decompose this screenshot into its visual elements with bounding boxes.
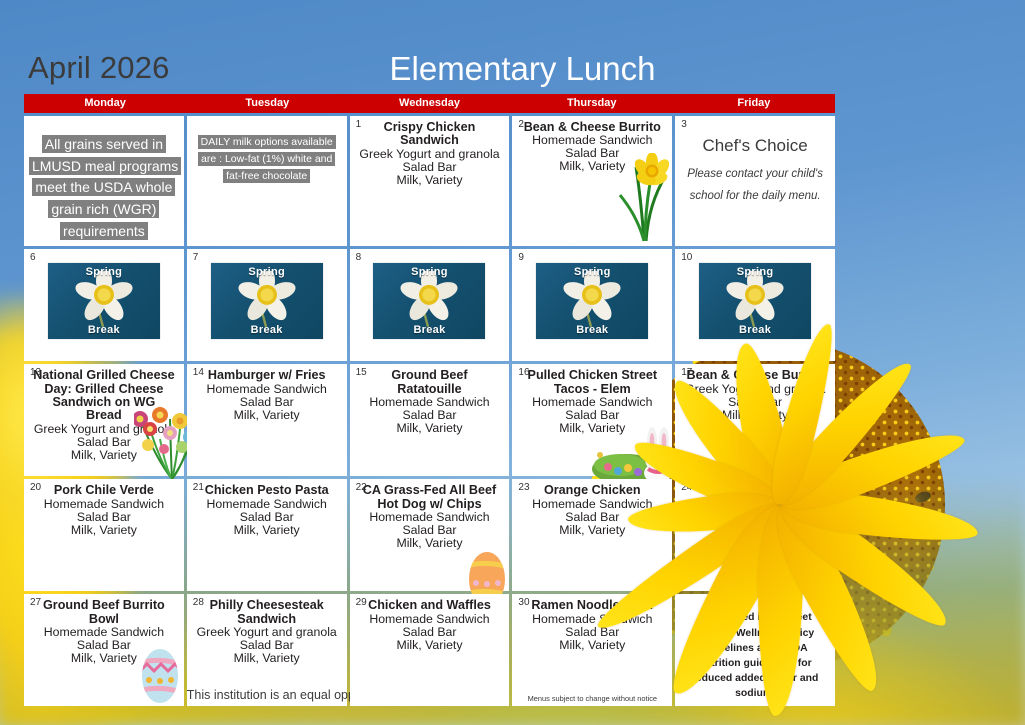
- page-title: Elementary Lunch: [20, 50, 1025, 88]
- menu-side: Milk, Variety: [29, 652, 179, 665]
- spring-break-image: SpringBreak: [211, 263, 323, 339]
- menu-entree: Bean & Cheese Burrito: [517, 121, 667, 134]
- menu-side: Homemade Sandwich: [355, 613, 505, 626]
- spring-break-label-top: Spring: [211, 266, 323, 278]
- note-text: All grains served in LMUSD meal programs…: [29, 135, 181, 240]
- spring-break-label-top: Spring: [373, 266, 485, 278]
- menu-side: Homemade Sandwich: [517, 613, 667, 626]
- day-number: 30: [518, 597, 529, 608]
- day-number: 15: [356, 367, 367, 378]
- note-grains: All grains served in LMUSD meal programs…: [29, 120, 179, 242]
- daffodil-photo-icon: [230, 271, 304, 329]
- menu-entree: Crispy Chicken Sandwich: [355, 121, 505, 148]
- day-number: 17: [681, 367, 692, 378]
- menu-side: Salad Bar: [29, 436, 179, 449]
- chefs-choice-block: Chef's ChoicePlease contact your child's…: [680, 120, 830, 208]
- menu-content: Ground Beef Burrito BowlHomemade Sandwic…: [29, 598, 179, 665]
- calendar-day-cell-2[interactable]: 2Bean & Cheese BurritoHomemade SandwichS…: [512, 116, 672, 246]
- menu-side: Salad Bar: [517, 626, 667, 639]
- menu-side: Greek Yogurt and granola: [355, 148, 505, 161]
- day-number: 21: [193, 482, 204, 493]
- menu-content: Philly Cheesesteak SandwichGreek Yogurt …: [192, 598, 342, 665]
- calendar-day-cell-7[interactable]: 7SpringBreak: [187, 249, 347, 361]
- calendar-day-cell-23[interactable]: 23Orange ChickenHomemade SandwichSalad B…: [512, 479, 672, 591]
- calendar-day-cell-30[interactable]: 30Ramen Noodle BowlHomemade SandwichSala…: [512, 594, 672, 706]
- spring-break-label-bottom: Break: [373, 324, 485, 336]
- calendar-note-cell[interactable]: All grains served in LMUSD meal programs…: [24, 116, 184, 246]
- menu-content: Chicken and WafflesHomemade SandwichSala…: [355, 598, 505, 651]
- menu-entree: CA Grass-Fed All Beef Hot Dog w/ Chips: [355, 484, 505, 511]
- chefs-choice-title: Chef's Choice: [680, 136, 830, 156]
- calendar-day-cell-3[interactable]: 3Chef's ChoicePlease contact your child'…: [675, 116, 835, 246]
- menu-side: Greek Yogurt and granola: [29, 423, 179, 436]
- menu-side: Milk, Variety: [192, 524, 342, 537]
- menu-entree: Hamburger w/ Fries: [192, 369, 342, 382]
- menu-content: Ground Beef RatatouilleHomemade Sandwich…: [355, 368, 505, 435]
- calendar-day-cell-9[interactable]: 9SpringBreak: [512, 249, 672, 361]
- calendar-week-row: 6SpringBreak7SpringBreak8SpringBreak9Spr…: [24, 249, 835, 361]
- menu-side: Milk, Variety: [355, 639, 505, 652]
- day-of-week-header: MondayTuesdayWednesdayThursdayFriday: [24, 94, 835, 113]
- day-header-wednesday: Wednesday: [348, 94, 510, 113]
- menu-entree: Pork Chile Verde: [29, 484, 179, 497]
- day-header-tuesday: Tuesday: [186, 94, 348, 113]
- menu-side: Milk, Variety: [355, 537, 505, 550]
- day-number: 27: [30, 597, 41, 608]
- daffodil-photo-icon: [718, 271, 792, 329]
- day-number: 20: [30, 482, 41, 493]
- spring-break-label-bottom: Break: [699, 324, 811, 336]
- menu-content: Pulled Chicken Street Tacos - ElemHomema…: [517, 368, 667, 435]
- day-number: 16: [518, 367, 529, 378]
- calendar-day-cell-14[interactable]: 14Hamburger w/ FriesHomemade SandwichSal…: [187, 364, 347, 476]
- menu-content: Hamburger w/ FriesHomemade SandwichSalad…: [192, 368, 342, 421]
- equal-opportunity-notice: This institution is an equal opportunity…: [187, 688, 347, 702]
- day-header-monday: Monday: [24, 94, 186, 113]
- day-number: 8: [356, 252, 362, 263]
- day-number: 13: [30, 367, 41, 378]
- menu-side: Milk, Variety: [355, 422, 505, 435]
- chefs-choice-subtitle: Please contact your child's school for t…: [680, 163, 830, 208]
- spring-break-label-bottom: Break: [536, 324, 648, 336]
- note-milk: DAILY milk options available are : Low-f…: [192, 120, 342, 184]
- menu-content: Pork Chile VerdeHomemade SandwichSalad B…: [29, 483, 179, 536]
- calendar-day-cell-13[interactable]: 13National Grilled Cheese Day: Grilled C…: [24, 364, 184, 476]
- menu-side: Milk, Variety: [517, 422, 667, 435]
- spring-break-image: SpringBreak: [699, 263, 811, 339]
- menu-side: Homemade Sandwich: [192, 383, 342, 396]
- menu-content: Chicken Pesto PastaHomemade SandwichSala…: [192, 483, 342, 536]
- menu-side: Milk, Variety: [192, 409, 342, 422]
- daffodil-photo-icon: [555, 271, 629, 329]
- calendar-day-cell-28[interactable]: 28Philly Cheesesteak SandwichGreek Yogur…: [187, 594, 347, 706]
- day-number: 2: [518, 119, 524, 130]
- day-number: 1: [356, 119, 362, 130]
- menu-side: Milk, Variety: [29, 524, 179, 537]
- menu-side: Milk, Variety: [517, 639, 667, 652]
- day-number: 3: [681, 119, 687, 130]
- menu-side: Homemade Sandwich: [29, 498, 179, 511]
- menu-side: Milk, Variety: [517, 160, 667, 173]
- calendar-note-cell[interactable]: DAILY milk options available are : Low-f…: [187, 116, 347, 246]
- daffodil-photo-icon: [67, 271, 141, 329]
- spring-break-label-bottom: Break: [211, 324, 323, 336]
- menu-side: Milk, Variety: [355, 174, 505, 187]
- note-text: DAILY milk options available are : Low-f…: [198, 135, 336, 183]
- menu-side: Salad Bar: [192, 396, 342, 409]
- calendar-day-cell-20[interactable]: 20Pork Chile VerdeHomemade SandwichSalad…: [24, 479, 184, 591]
- day-number: 14: [193, 367, 204, 378]
- spring-break-label-top: Spring: [48, 266, 160, 278]
- menu-entree: Pulled Chicken Street Tacos - Elem: [517, 369, 667, 396]
- menu-entree: Ground Beef Ratatouille: [355, 369, 505, 396]
- calendar-day-cell-1[interactable]: 1Crispy Chicken SandwichGreek Yogurt and…: [350, 116, 510, 246]
- menu-side: Homemade Sandwich: [192, 498, 342, 511]
- spring-break-image: SpringBreak: [48, 263, 160, 339]
- spring-break-image: SpringBreak: [373, 263, 485, 339]
- menu-side: Salad Bar: [355, 161, 505, 174]
- day-number: 9: [518, 252, 524, 263]
- menu-entree: Chicken Pesto Pasta: [192, 484, 342, 497]
- day-header-thursday: Thursday: [511, 94, 673, 113]
- menu-content: Bean & Cheese BurritoHomemade SandwichSa…: [517, 120, 667, 173]
- menu-content: Crispy Chicken SandwichGreek Yogurt and …: [355, 120, 505, 187]
- day-number: 6: [30, 252, 36, 263]
- day-number: 10: [681, 252, 692, 263]
- menu-content: National Grilled Cheese Day: Grilled Che…: [29, 368, 179, 461]
- menu-side: Salad Bar: [192, 511, 342, 524]
- calendar-day-cell-21[interactable]: 21Chicken Pesto PastaHomemade SandwichSa…: [187, 479, 347, 591]
- menu-entree: Orange Chicken: [517, 484, 667, 497]
- day-number: 28: [193, 597, 204, 608]
- calendar-day-cell-15[interactable]: 15Ground Beef RatatouilleHomemade Sandwi…: [350, 364, 510, 476]
- spring-break-image: SpringBreak: [536, 263, 648, 339]
- calendar-week-row: All grains served in LMUSD meal programs…: [24, 116, 835, 246]
- menu-entree: Philly Cheesesteak Sandwich: [192, 599, 342, 626]
- menus-subject-to-change-notice: Menus subject to change without notice: [512, 694, 672, 703]
- calendar-day-cell-6[interactable]: 6SpringBreak: [24, 249, 184, 361]
- day-header-friday: Friday: [673, 94, 835, 113]
- daffodil-photo-icon: [392, 271, 466, 329]
- calendar-day-cell-22[interactable]: 22CA Grass-Fed All Beef Hot Dog w/ Chips…: [350, 479, 510, 591]
- day-number: 22: [356, 482, 367, 493]
- menu-entree: Chicken and Waffles: [355, 599, 505, 612]
- menu-side: Milk, Variety: [192, 652, 342, 665]
- day-number: 29: [356, 597, 367, 608]
- spring-break-label-top: Spring: [536, 266, 648, 278]
- menu-entree: Ground Beef Burrito Bowl: [29, 599, 179, 626]
- day-number: 7: [193, 252, 199, 263]
- menu-content: CA Grass-Fed All Beef Hot Dog w/ ChipsHo…: [355, 483, 505, 550]
- calendar-day-cell-27[interactable]: 27Ground Beef Burrito BowlHomemade Sandw…: [24, 594, 184, 706]
- menu-side: Salad Bar: [29, 511, 179, 524]
- calendar-day-cell-29[interactable]: 29Chicken and WafflesHomemade SandwichSa…: [350, 594, 510, 706]
- menu-entree: National Grilled Cheese Day: Grilled Che…: [29, 369, 179, 422]
- spring-break-label-top: Spring: [699, 266, 811, 278]
- menu-side: Milk, Variety: [29, 449, 179, 462]
- spring-break-label-bottom: Break: [48, 324, 160, 336]
- menu-side: Salad Bar: [355, 626, 505, 639]
- calendar-day-cell-8[interactable]: 8SpringBreak: [350, 249, 510, 361]
- day-number: 23: [518, 482, 529, 493]
